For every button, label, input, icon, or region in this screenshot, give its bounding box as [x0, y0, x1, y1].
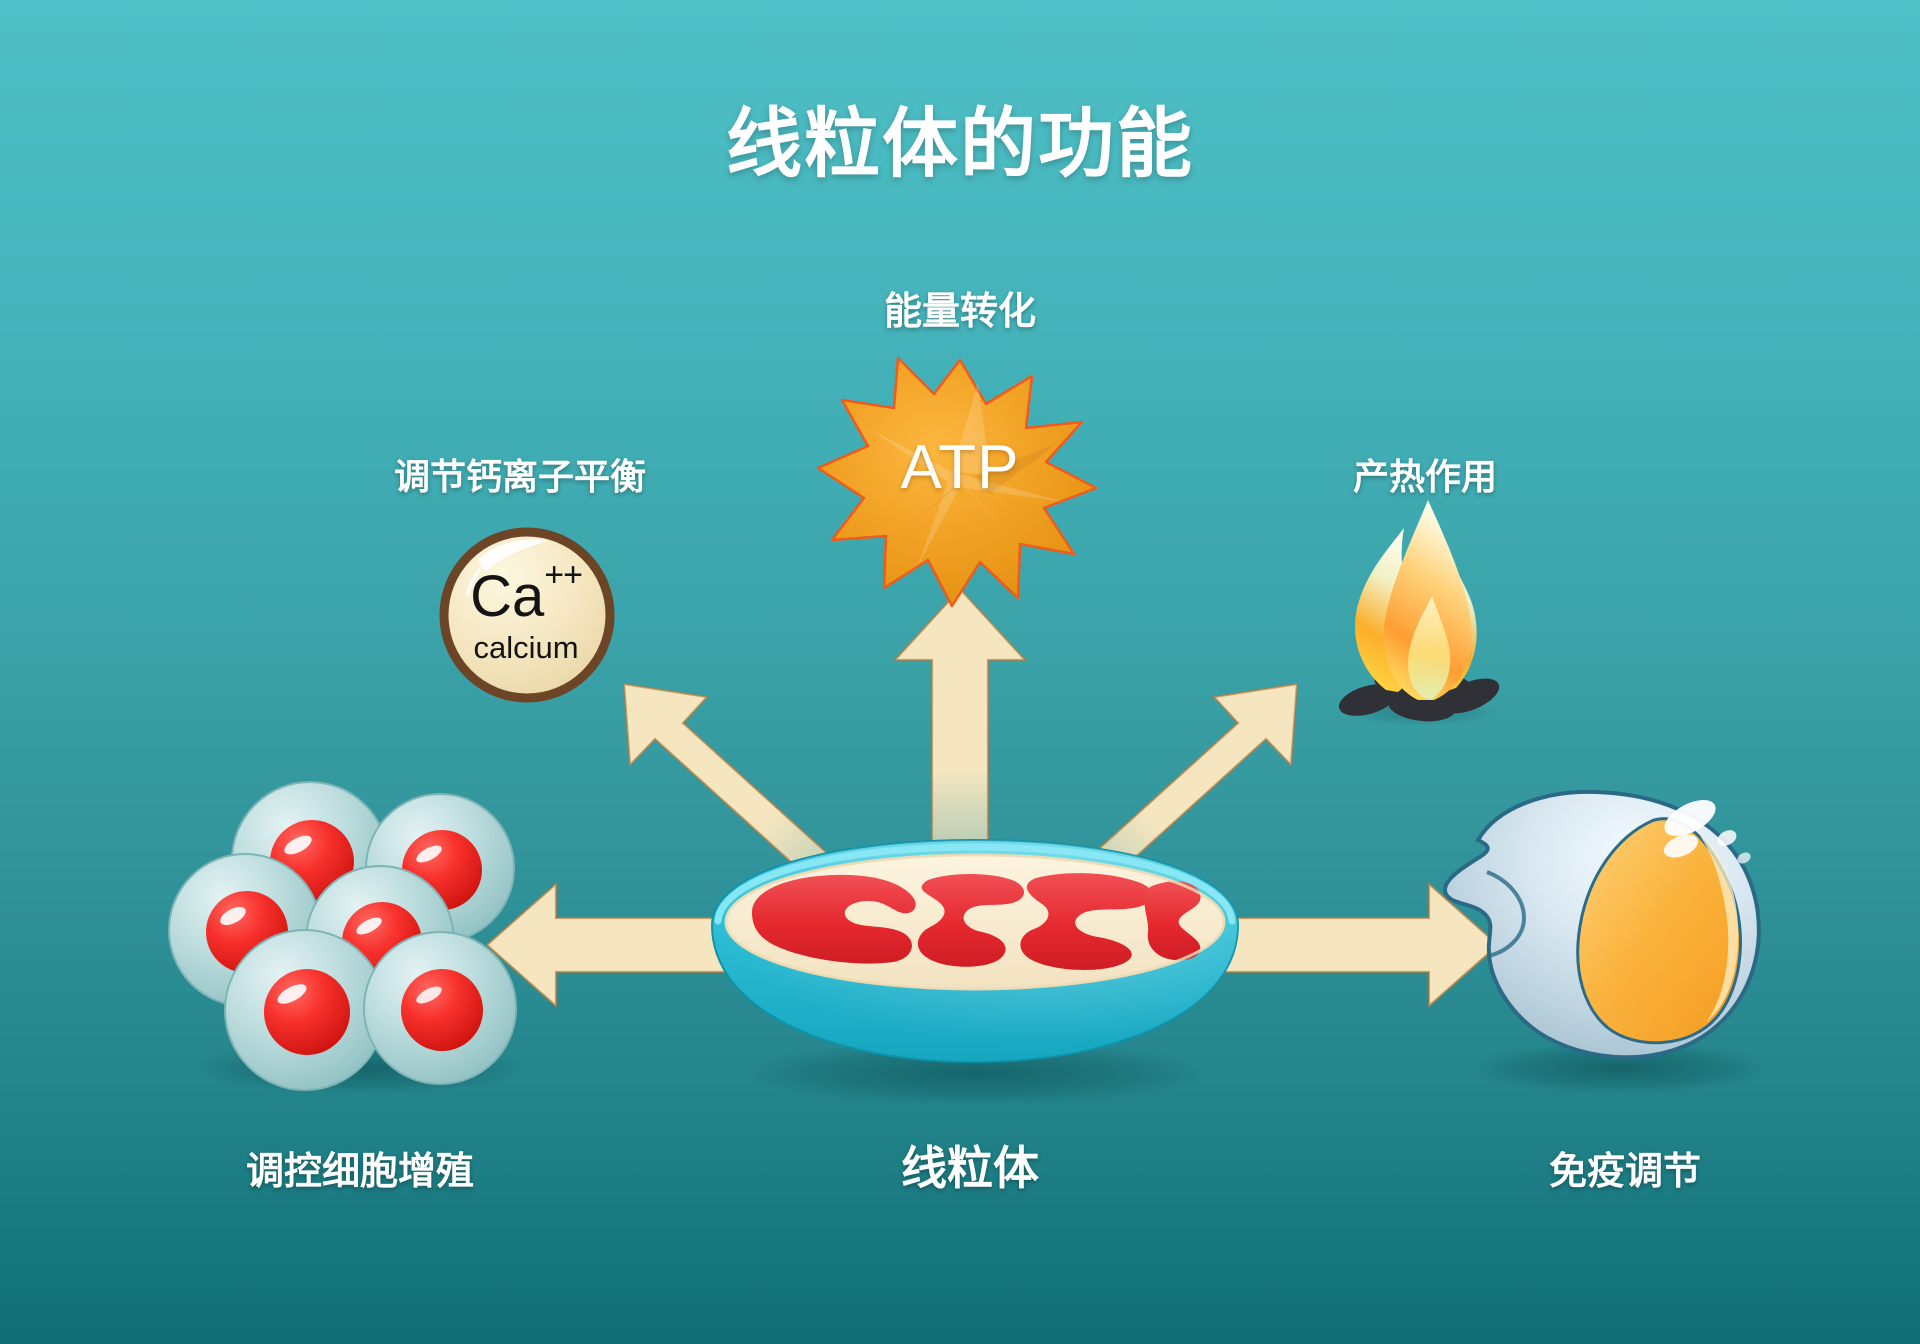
caption-mitochondrion: 线粒体	[820, 1132, 1120, 1198]
calcium-charge: ++	[544, 556, 582, 594]
caption-thermogenesis: 产热作用	[1310, 448, 1540, 500]
caption-energy: 能量转化	[0, 280, 1920, 335]
diagram-canvas: 线粒体的功能	[0, 0, 1920, 1344]
calcium-word: calcium	[436, 630, 616, 666]
macrophage-icon	[1445, 792, 1770, 1094]
campfire-icon	[1335, 500, 1504, 726]
cell-cluster-icon	[169, 782, 528, 1094]
caption-immunity: 免疫调节	[1510, 1140, 1740, 1195]
calcium-symbol: Ca++	[436, 556, 616, 630]
atp-burst-label: ATP	[855, 432, 1065, 503]
caption-calcium: 调节钙离子平衡	[360, 448, 680, 500]
cell	[225, 930, 385, 1090]
calcium-element: Ca	[470, 564, 544, 629]
cell	[364, 932, 516, 1084]
caption-proliferation: 调控细胞增殖	[200, 1140, 520, 1195]
mitochondrion-icon	[712, 840, 1238, 1105]
